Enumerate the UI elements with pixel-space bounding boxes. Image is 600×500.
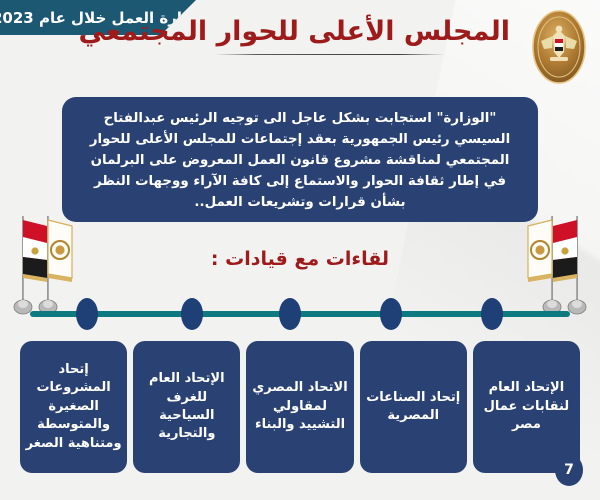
page-title-block: المجلس الأعلى للحوار المجتمعي (150, 16, 510, 55)
organization-card-1[interactable]: إتحاد المشروعات الصغيرة والمتوسطة ومتناه… (20, 341, 127, 473)
egyptian-flags-pair-left-icon (2, 212, 76, 322)
timeline-dot-1 (76, 298, 98, 330)
organization-card-label: الإتحاد العام للغرف السياحية والتجارية (138, 370, 235, 444)
organization-card-label: الاتحاد المصري لمقاولي التشييد والبناء (251, 379, 348, 434)
organization-card-5[interactable]: الإتحاد العام لنقابات عمال مصر (473, 341, 580, 473)
egyptian-flags-pair-right-icon (524, 212, 598, 322)
page-number-badge: 7 (555, 454, 583, 486)
timeline-dot-4 (380, 298, 402, 330)
organization-cards: إتحاد المشروعات الصغيرة والمتوسطة ومتناه… (20, 341, 580, 473)
organization-card-2[interactable]: الإتحاد العام للغرف السياحية والتجارية (133, 341, 240, 473)
ministry-of-labour-emblem-icon (530, 8, 588, 86)
timeline-dot-5 (481, 298, 503, 330)
timeline-dot-3 (279, 298, 301, 330)
section-subtitle: لقاءات مع قيادات : (0, 248, 600, 270)
organization-card-4[interactable]: إتحاد الصناعات المصرية (360, 341, 467, 473)
organization-card-3[interactable]: الاتحاد المصري لمقاولي التشييد والبناء (246, 341, 353, 473)
title-underline-divider (215, 54, 445, 55)
organization-card-label: الإتحاد العام لنقابات عمال مصر (478, 379, 575, 434)
statement-card: "الوزارة" استجابت بشكل عاجل الى توجيه ال… (62, 97, 538, 222)
organization-card-label: إتحاد المشروعات الصغيرة والمتوسطة ومتناه… (25, 361, 122, 453)
infographic-slide: وزارة العمل خلال عام 2023 المجلس الأعلى … (0, 0, 600, 500)
page-title: المجلس الأعلى للحوار المجتمعي (150, 16, 510, 47)
timeline-dot-2 (181, 298, 203, 330)
statement-text: "الوزارة" استجابت بشكل عاجل الى توجيه ال… (80, 108, 520, 214)
organization-card-label: إتحاد الصناعات المصرية (365, 389, 462, 426)
